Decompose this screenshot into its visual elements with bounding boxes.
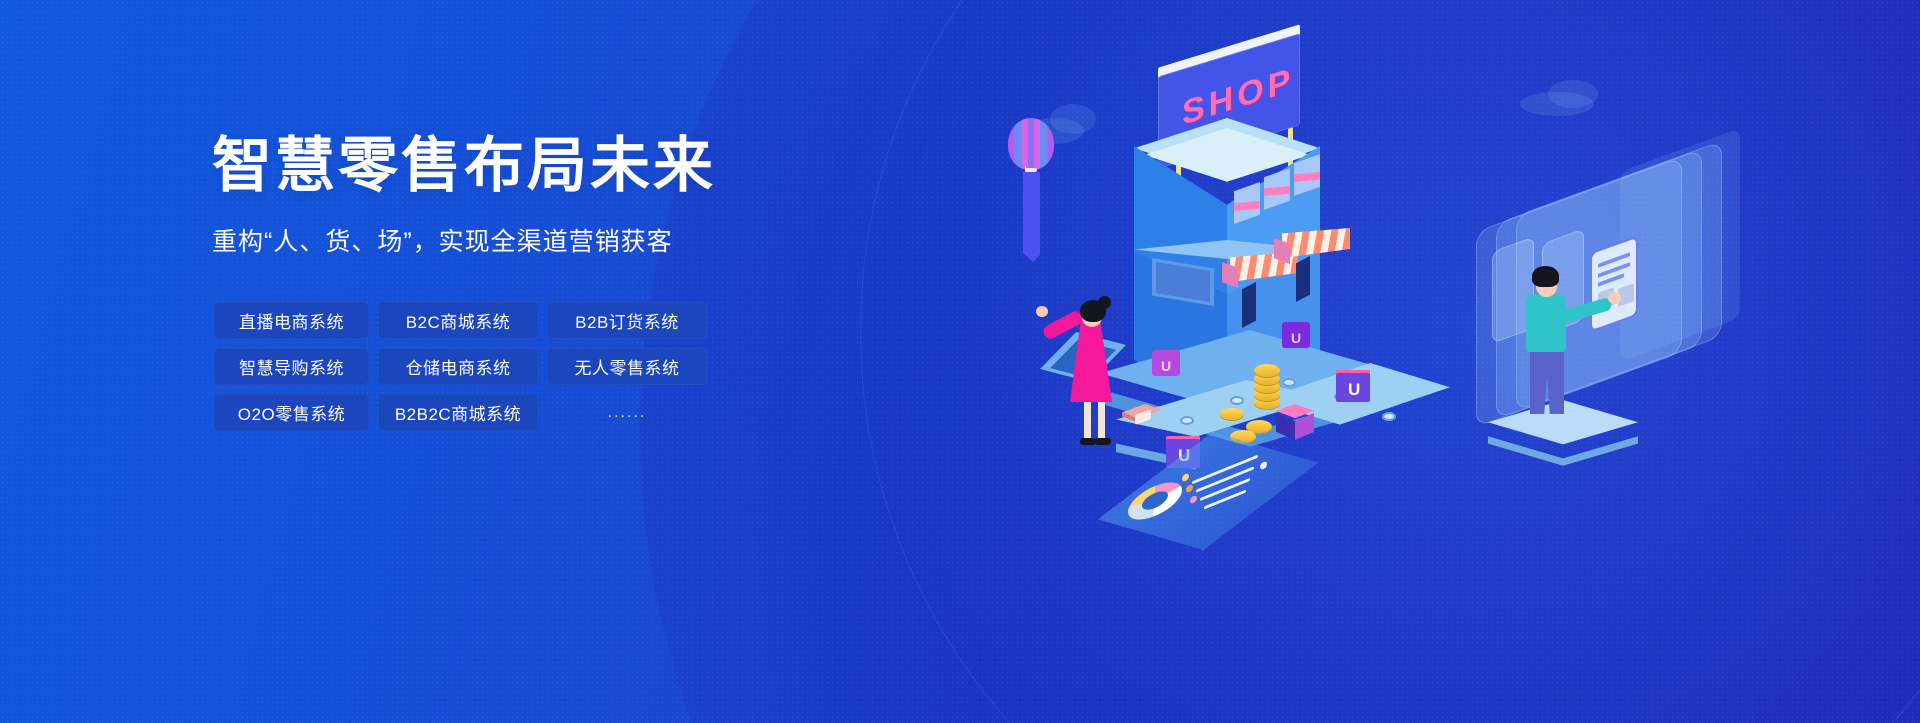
tag-b2b-ordering[interactable]: B2B订货系统	[547, 302, 707, 339]
tag-row: 直播电商系统 B2C商城系统 B2B订货系统	[214, 302, 707, 339]
conveyor-roller	[1382, 412, 1396, 421]
price-tag-glyph: U	[1291, 330, 1301, 346]
man-hand	[1608, 292, 1621, 304]
conveyor-roller	[1180, 416, 1194, 425]
conveyor-roller	[1230, 396, 1244, 405]
tag-more-ellipsis: ......	[547, 394, 707, 431]
headline-block: 智慧零售布局未来 重构“人、货、场”，实现全渠道营销获客	[212, 132, 832, 258]
hero-banner: 智慧零售布局未来 重构“人、货、场”，实现全渠道营销获客 直播电商系统 B2C商…	[0, 0, 1920, 723]
tag-b2b2c-mall[interactable]: B2B2C商城系统	[378, 394, 538, 431]
retail-illustration: SHOP	[930, 0, 1920, 723]
woman-hair-bun	[1098, 296, 1111, 309]
store-door	[1296, 256, 1310, 302]
tag-row: O2O零售系统 B2B2C商城系统 ......	[214, 394, 707, 431]
store-door	[1242, 282, 1256, 328]
man-sweater	[1526, 294, 1566, 352]
gift-face-left	[1276, 413, 1295, 440]
page-subtitle: 重构“人、货、场”，实现全渠道营销获客	[212, 222, 832, 258]
tag-o2o-retail[interactable]: O2O零售系统	[214, 394, 369, 431]
man-hair	[1532, 266, 1559, 287]
page-title: 智慧零售布局未来	[212, 132, 832, 200]
tag-live-commerce[interactable]: 直播电商系统	[214, 302, 369, 339]
gift-box-icon	[1276, 404, 1314, 440]
gift-face-right	[1295, 413, 1314, 440]
woman-hand	[1036, 306, 1048, 317]
shopping-bag-handle: U	[1348, 380, 1360, 400]
coin-icon	[1220, 408, 1244, 420]
balloon-banner	[1023, 172, 1040, 262]
price-tag-glyph: U	[1161, 358, 1171, 374]
balloon-basket	[1025, 168, 1037, 172]
tag-unmanned-retail[interactable]: 无人零售系统	[547, 348, 707, 385]
conveyor-roller	[1282, 378, 1296, 387]
tag-b2c-mall[interactable]: B2C商城系统	[378, 302, 538, 339]
woman-shoe	[1095, 438, 1111, 445]
coin-stack-icon	[1254, 364, 1280, 377]
product-tag-grid: 直播电商系统 B2C商城系统 B2B订货系统 智慧导购系统 仓储电商系统 无人零…	[214, 302, 707, 431]
tag-warehouse-commerce[interactable]: 仓储电商系统	[378, 348, 538, 385]
hot-air-balloon-icon	[1008, 118, 1054, 170]
tag-smart-guide[interactable]: 智慧导购系统	[214, 348, 369, 385]
tag-row: 智慧导购系统 仓储电商系统 无人零售系统	[214, 348, 707, 385]
woman-shoe	[1080, 438, 1096, 445]
